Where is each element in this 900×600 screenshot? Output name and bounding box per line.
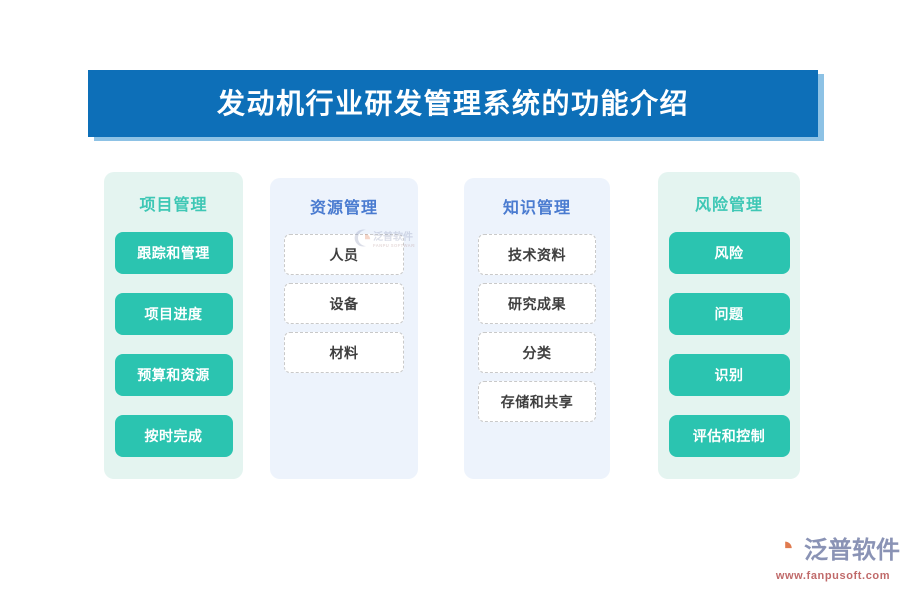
feature-item[interactable]: 分类 — [478, 332, 596, 373]
column-item-list: 人员 设备 材料 — [270, 234, 418, 381]
feature-item[interactable]: 预算和资源 — [115, 354, 233, 396]
feature-column-knowledge-management[interactable]: 知识管理 技术资料 研究成果 分类 存储和共享 — [464, 178, 610, 479]
column-title: 风险管理 — [695, 198, 763, 214]
feature-item[interactable]: 按时完成 — [115, 415, 233, 457]
column-item-list: 技术资料 研究成果 分类 存储和共享 — [464, 234, 610, 430]
brand-name: 泛普软件 — [804, 539, 900, 563]
column-title: 知识管理 — [503, 201, 571, 217]
feature-item[interactable]: 存储和共享 — [478, 381, 596, 422]
feature-item[interactable]: 技术资料 — [478, 234, 596, 275]
feature-item[interactable]: 跟踪和管理 — [115, 232, 233, 274]
feature-item[interactable]: 识别 — [669, 354, 790, 396]
feature-column-risk-management[interactable]: 风险管理 风险 问题 识别 评估和控制 — [658, 172, 800, 479]
fanpu-swoosh-icon — [772, 534, 800, 567]
feature-item[interactable]: 风险 — [669, 232, 790, 274]
slide-canvas: 发动机行业研发管理系统的功能介绍 项目管理 跟踪和管理 项目进度 预算和资源 按… — [0, 0, 900, 600]
column-title: 资源管理 — [310, 201, 378, 217]
brand-logo-row: 泛普软件 — [772, 534, 894, 567]
feature-item[interactable]: 评估和控制 — [669, 415, 790, 457]
feature-item[interactable]: 项目进度 — [115, 293, 233, 335]
feature-item[interactable]: 研究成果 — [478, 283, 596, 324]
column-item-list: 风险 问题 识别 评估和控制 — [658, 232, 800, 457]
feature-item[interactable]: 人员 — [284, 234, 404, 275]
feature-item[interactable]: 材料 — [284, 332, 404, 373]
column-item-list: 跟踪和管理 项目进度 预算和资源 按时完成 — [104, 232, 243, 457]
brand-logo: 泛普软件 www.fanpusoft.com — [772, 534, 894, 582]
feature-column-resource-management[interactable]: 资源管理 人员 设备 材料 — [270, 178, 418, 479]
feature-column-project-management[interactable]: 项目管理 跟踪和管理 项目进度 预算和资源 按时完成 — [104, 172, 243, 479]
feature-item[interactable]: 设备 — [284, 283, 404, 324]
column-title: 项目管理 — [139, 198, 207, 214]
feature-item[interactable]: 问题 — [669, 293, 790, 335]
brand-url: www.fanpusoft.com — [772, 570, 894, 582]
feature-columns: 项目管理 跟踪和管理 项目进度 预算和资源 按时完成 资源管理 人员 设备 材料… — [0, 0, 900, 600]
